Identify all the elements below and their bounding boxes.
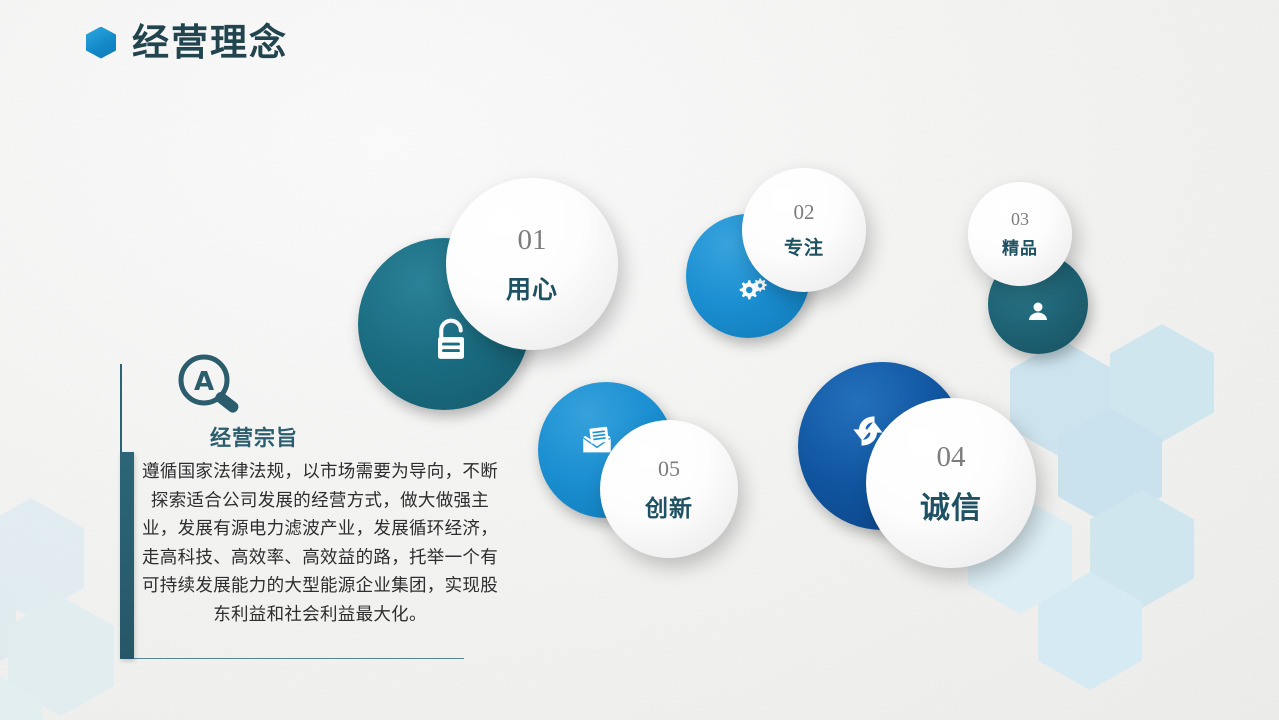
panel-heading: 经营宗旨	[164, 422, 344, 452]
slide-canvas: 经营理念 A 经营宗旨 遵循国家法律法规，以市场需要为导向，不断探索适合公司发展…	[0, 0, 1279, 720]
node-02-label: 专注	[784, 239, 824, 258]
node-04-label-circle[interactable]: 04 诚信	[866, 398, 1036, 568]
magnifier-a-icon: A	[166, 352, 262, 418]
panel-rule-bottom	[134, 658, 464, 659]
node-03-number: 03	[1011, 210, 1029, 228]
node-01-number: 01	[518, 226, 547, 255]
panel-rule-top	[120, 364, 122, 452]
panel-body-text: 遵循国家法律法规，以市场需要为导向，不断探索适合公司发展的经营方式，做大做强主业…	[140, 458, 500, 629]
hex-shape	[0, 498, 84, 618]
svg-text:A: A	[194, 367, 214, 397]
node-01[interactable]: 01 用心	[358, 178, 618, 408]
page-title-text: 经营理念	[132, 24, 288, 61]
hex-shape	[0, 562, 16, 682]
node-03-label: 精品	[1002, 241, 1038, 258]
hexagon-icon	[86, 27, 116, 59]
node-05-number: 05	[658, 458, 680, 480]
hex-shape	[1090, 490, 1194, 608]
hex-shape	[1110, 324, 1214, 442]
node-04-number: 04	[937, 443, 966, 472]
hex-shape	[1038, 572, 1142, 690]
node-05[interactable]: 05 创新	[538, 382, 738, 564]
node-01-label: 用心	[506, 277, 558, 302]
node-05-label: 创新	[645, 498, 693, 521]
hex-shape	[1058, 408, 1162, 526]
node-02[interactable]: 02 专注	[686, 168, 866, 338]
panel-accent-bar	[120, 452, 134, 659]
node-02-number: 02	[794, 202, 815, 223]
node-03-label-circle[interactable]: 03 精品	[968, 182, 1072, 286]
node-04[interactable]: 04 诚信	[798, 362, 1036, 562]
node-03[interactable]: 03 精品	[968, 182, 1096, 354]
hexagon-decoration-right	[1020, 320, 1279, 720]
hex-shape	[8, 596, 114, 716]
person-icon	[1022, 295, 1054, 327]
node-05-label-circle[interactable]: 05 创新	[600, 420, 738, 558]
node-01-label-circle[interactable]: 01 用心	[446, 178, 618, 350]
node-02-label-circle[interactable]: 02 专注	[742, 168, 866, 292]
hex-shape	[0, 670, 42, 720]
node-04-label: 诚信	[920, 494, 982, 524]
page-title: 经营理念	[86, 24, 288, 61]
